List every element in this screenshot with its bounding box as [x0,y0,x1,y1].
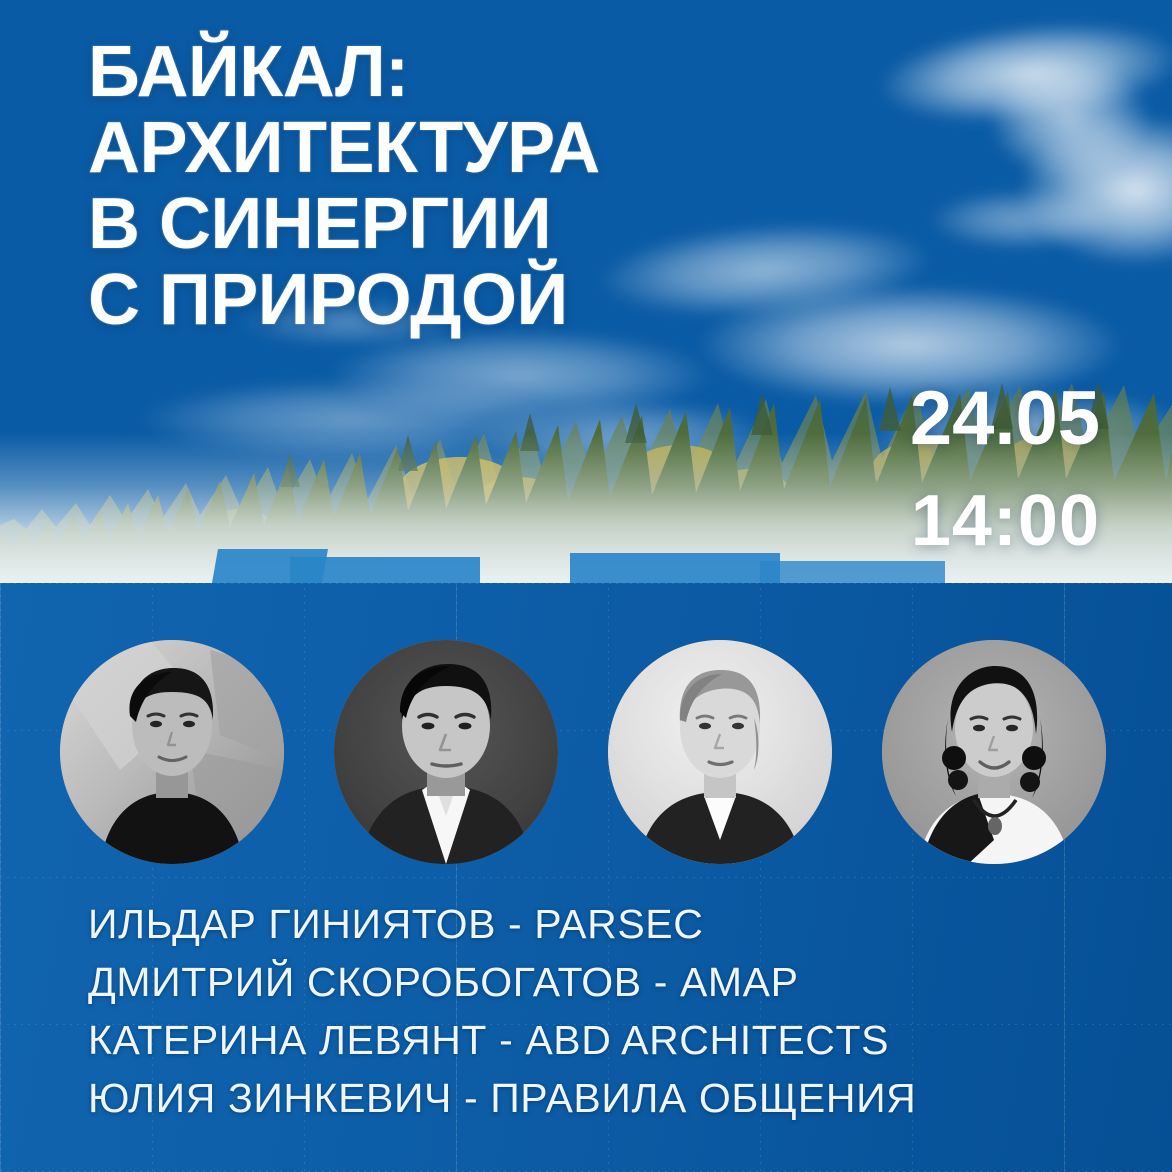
speakers-panel: ИЛЬДАР ГИНИЯТОВ - PARSEC ДМИТРИЙ СКОРОБО… [0,583,1172,1172]
list-item: ИЛЬДАР ГИНИЯТОВ - PARSEC [88,895,916,953]
blue-roof-structure [290,557,480,583]
title-line-2: АРХИТЕКТУРА [88,110,600,186]
speaker-list: ИЛЬДАР ГИНИЯТОВ - PARSEC ДМИТРИЙ СКОРОБО… [88,895,916,1127]
blue-roof-structure [570,553,780,583]
page-title: БАЙКАЛ: АРХИТЕКТУРА В СИНЕРГИИ С ПРИРОДО… [88,34,600,338]
hero-photo-banner: БАЙКАЛ: АРХИТЕКТУРА В СИНЕРГИИ С ПРИРОДО… [0,0,1172,583]
list-item: ДМИТРИЙ СКОРОБОГАТОВ - АМАР [88,953,916,1011]
portrait-speaker-1-image [60,640,284,864]
speaker-portraits-row [60,640,1106,864]
avatar [334,640,558,864]
title-line-1: БАЙКАЛ: [88,34,600,110]
event-datetime: 24.05 14:00 [910,378,1100,560]
title-line-4: С ПРИРОДОЙ [88,262,600,338]
list-item: ЮЛИЯ ЗИНКЕВИЧ - ПРАВИЛА ОБЩЕНИЯ [88,1069,916,1127]
portrait-speaker-3-image [608,640,832,864]
title-line-3: В СИНЕРГИИ [88,186,600,262]
event-time: 14:00 [910,482,1100,560]
list-item: КАТЕРИНА ЛЕВЯНТ - ABD ARCHITECTS [88,1011,916,1069]
portrait-speaker-4-image [882,640,1106,864]
avatar [882,640,1106,864]
avatar [60,640,284,864]
portrait-speaker-2-image [334,640,558,864]
event-poster: БАЙКАЛ: АРХИТЕКТУРА В СИНЕРГИИ С ПРИРОДО… [0,0,1172,1172]
avatar [608,640,832,864]
event-date: 24.05 [910,378,1100,460]
blue-roof-structure [760,561,945,583]
